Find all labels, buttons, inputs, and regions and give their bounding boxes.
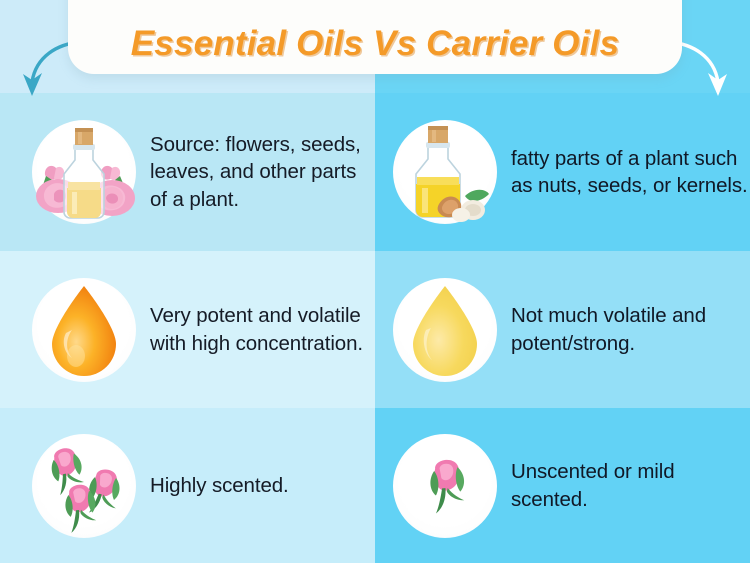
icon-artwork: [32, 278, 136, 382]
row-potency-left-cell: Very potent and volatile with high conce…: [0, 251, 375, 408]
oil-bottle-with-roses-icon: [32, 120, 136, 224]
icon-artwork: [393, 120, 497, 224]
comparison-row-scent: Highly scented.: [0, 408, 750, 563]
row-scent-right-cell: Unscented or mild scented.: [375, 408, 750, 563]
icon-artwork: [32, 120, 136, 224]
row-scent-left-cell: Highly scented.: [0, 408, 375, 563]
row-scent-right-text: Unscented or mild scented.: [511, 458, 750, 513]
infographic-canvas: Essential Oils Vs Carrier Oils: [0, 0, 750, 563]
icon-artwork: [393, 434, 497, 538]
row-potency-left-text: Very potent and volatile with high conce…: [150, 302, 375, 357]
three-rosebuds-icon: [32, 434, 136, 538]
row-scent-left-text: Highly scented.: [150, 472, 289, 499]
oil-bottle-with-almonds-icon: [393, 120, 497, 224]
row-potency-right-text: Not much volatile and potent/strong.: [511, 302, 750, 357]
page-title: Essential Oils Vs Carrier Oils: [131, 24, 619, 64]
row-source-right-text: fatty parts of a plant such as nuts, see…: [511, 145, 750, 200]
row-source-left-text: Source: flowers, seeds, leaves, and othe…: [150, 131, 375, 213]
row-potency-right-cell: Not much volatile and potent/strong.: [375, 251, 750, 408]
comparison-row-source: Source: flowers, seeds, leaves, and othe…: [0, 93, 750, 251]
single-rosebud-icon: [393, 434, 497, 538]
icon-artwork: [393, 278, 497, 382]
row-source-right-cell: fatty parts of a plant such as nuts, see…: [375, 93, 750, 251]
icon-artwork: [32, 434, 136, 538]
row-source-left-cell: Source: flowers, seeds, leaves, and othe…: [0, 93, 375, 251]
pale-yellow-oil-droplet-icon: [393, 278, 497, 382]
orange-oil-droplet-icon: [32, 278, 136, 382]
title-card: Essential Oils Vs Carrier Oils: [68, 0, 682, 74]
comparison-row-potency: Very potent and volatile with high conce…: [0, 251, 750, 408]
